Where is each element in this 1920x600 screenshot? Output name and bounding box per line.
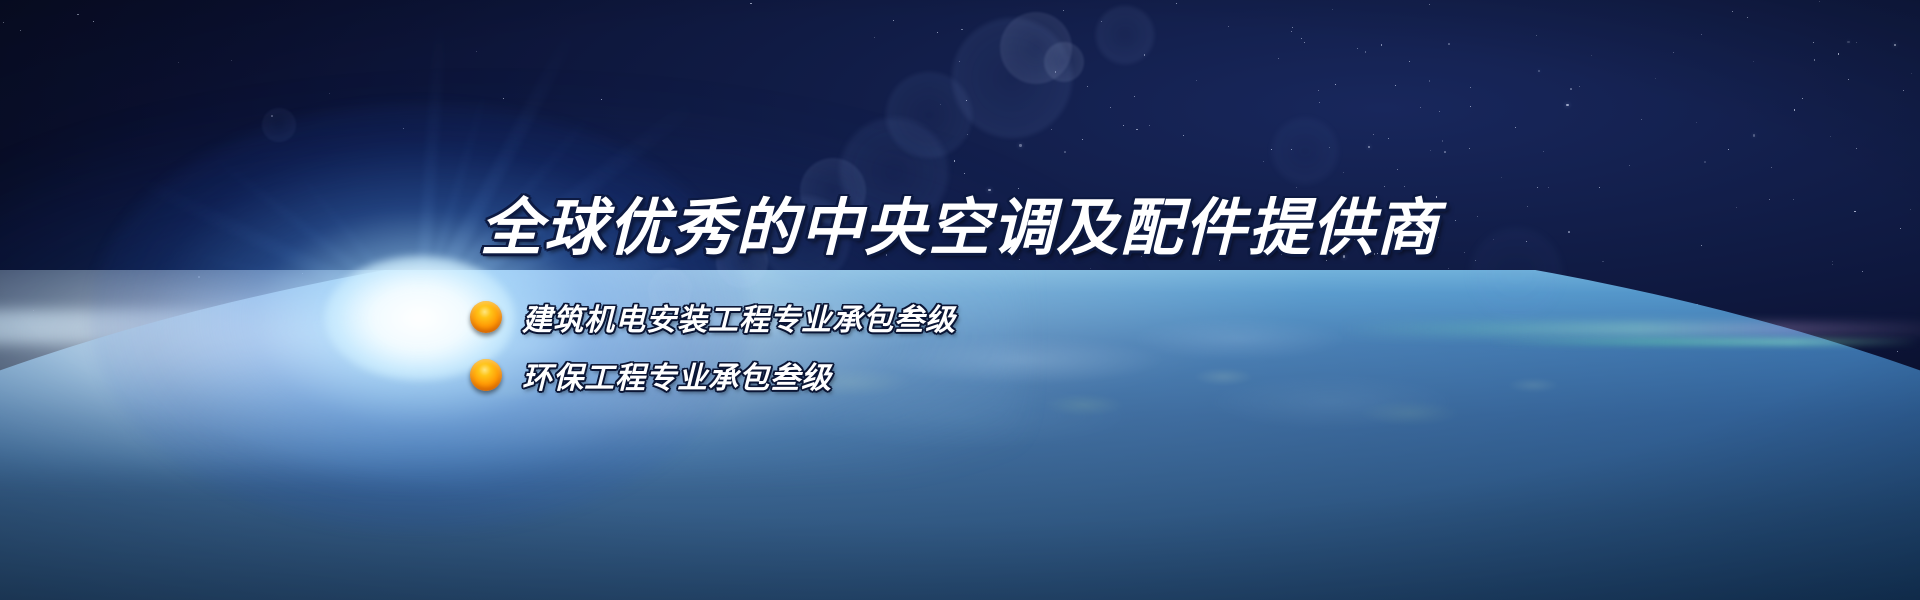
- banner-content: 全球优秀的中央空调及配件提供商 建筑机电安装工程专业承包叁级 环保工程专业承包叁…: [0, 0, 1920, 600]
- hero-banner: 全球优秀的中央空调及配件提供商 建筑机电安装工程专业承包叁级 环保工程专业承包叁…: [0, 0, 1920, 600]
- feature-list: 建筑机电安装工程专业承包叁级 环保工程专业承包叁级: [470, 295, 956, 397]
- feature-label: 环保工程专业承包叁级: [522, 353, 832, 397]
- banner-headline: 全球优秀的中央空调及配件提供商: [480, 196, 1440, 261]
- gold-bullet-icon: [470, 359, 502, 391]
- gold-bullet-icon: [470, 301, 502, 333]
- list-item: 环保工程专业承包叁级: [470, 353, 956, 397]
- list-item: 建筑机电安装工程专业承包叁级: [470, 295, 956, 339]
- feature-label: 建筑机电安装工程专业承包叁级: [522, 295, 956, 339]
